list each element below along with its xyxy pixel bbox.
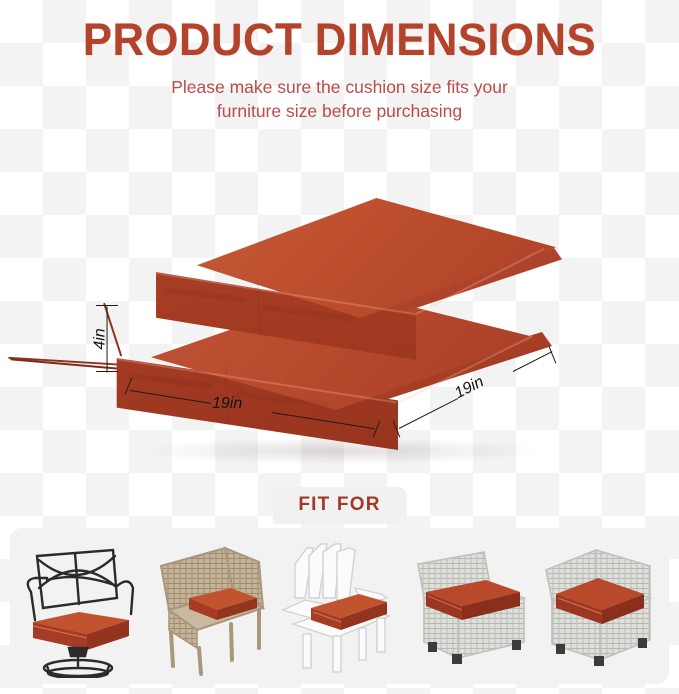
product-dimensions-infographic: PRODUCT DIMENSIONS Please make sure the … bbox=[0, 0, 679, 694]
fit-item-gray-wicker-corner-sectional[interactable] bbox=[538, 536, 662, 678]
header: PRODUCT DIMENSIONS Please make sure the … bbox=[0, 14, 679, 123]
fit-item-gray-wicker-armless-sectional[interactable] bbox=[408, 536, 532, 678]
fit-for-panel bbox=[10, 528, 669, 684]
product-dimension-stage: 4in 19in 19in bbox=[0, 150, 679, 480]
fit-for-badge: FIT FOR bbox=[272, 487, 406, 524]
subtitle-line-2: furniture size before purchasing bbox=[0, 99, 679, 123]
fit-item-wicker-rattan-armchair[interactable] bbox=[147, 536, 271, 678]
cushion-upper bbox=[0, 150, 679, 480]
height-dim-label: 4in bbox=[92, 328, 110, 349]
page-title: PRODUCT DIMENSIONS bbox=[10, 14, 669, 66]
height-dim-tick-bottom bbox=[96, 371, 118, 372]
page-subtitle: Please make sure the cushion size fits y… bbox=[0, 75, 679, 123]
subtitle-line-1: Please make sure the cushion size fits y… bbox=[0, 75, 679, 99]
fit-item-wrought-iron-swivel-chair[interactable] bbox=[17, 536, 141, 678]
width-dim-label: 19in bbox=[212, 395, 242, 413]
fit-item-white-adirondack-chair[interactable] bbox=[277, 536, 401, 678]
